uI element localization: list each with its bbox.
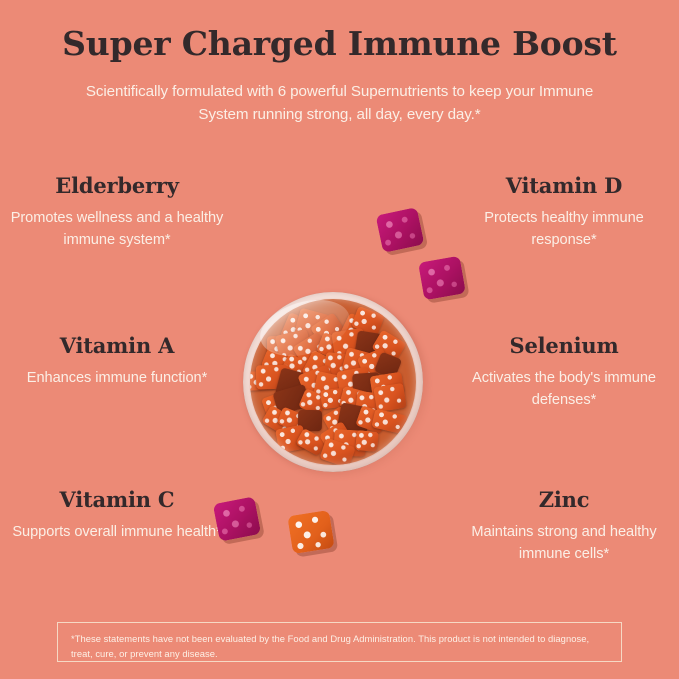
header: Super Charged Immune Boost Scientificall…	[0, 26, 679, 126]
nutrient-card-vitamin-a: Vitamin A Enhances immune function*	[8, 334, 226, 390]
immune-boost-infographic: Super Charged Immune Boost Scientificall…	[0, 0, 679, 679]
nutrient-card-selenium: Selenium Activates the body's immune def…	[455, 334, 673, 412]
product-photo-bowl	[238, 286, 430, 478]
nutrient-name: Vitamin A	[8, 334, 226, 358]
nutrient-description: Enhances immune function*	[8, 368, 226, 390]
nutrient-description: Supports overall immune health*	[8, 522, 226, 544]
nutrient-description: Promotes wellness and a healthy immune s…	[8, 208, 226, 252]
candy-piece-orange	[287, 510, 334, 554]
nutrient-description: Activates the body's immune defenses*	[455, 368, 673, 412]
nutrient-card-vitamin-d: Vitamin D Protects healthy immune respon…	[455, 174, 673, 252]
chew-square	[355, 430, 379, 453]
candy-piece-berry	[418, 256, 466, 301]
nutrient-card-vitamin-c: Vitamin C Supports overall immune health…	[8, 488, 226, 544]
nutrient-description: Maintains strong and healthy immune cell…	[455, 522, 673, 566]
candy-piece-berry	[376, 207, 425, 253]
candy-piece-berry	[213, 496, 261, 541]
nutrient-name: Vitamin C	[8, 488, 226, 512]
disclaimer-box: *These statements have not been evaluate…	[57, 622, 622, 662]
nutrient-name: Vitamin D	[455, 174, 673, 198]
nutrient-name: Selenium	[455, 334, 673, 358]
nutrient-name: Elderberry	[8, 174, 226, 198]
nutrient-description: Protects healthy immune response*	[455, 208, 673, 252]
glass-bowl	[243, 292, 423, 472]
nutrient-card-zinc: Zinc Maintains strong and healthy immune…	[455, 488, 673, 566]
page-title: Super Charged Immune Boost	[0, 26, 679, 62]
page-subtitle: Scientifically formulated with 6 powerfu…	[67, 80, 612, 126]
nutrient-card-elderberry: Elderberry Promotes wellness and a healt…	[8, 174, 226, 252]
disclaimer-text: *These statements have not been evaluate…	[71, 632, 608, 661]
chew-pile	[250, 299, 416, 465]
nutrient-name: Zinc	[455, 488, 673, 512]
chew-square	[373, 383, 407, 412]
